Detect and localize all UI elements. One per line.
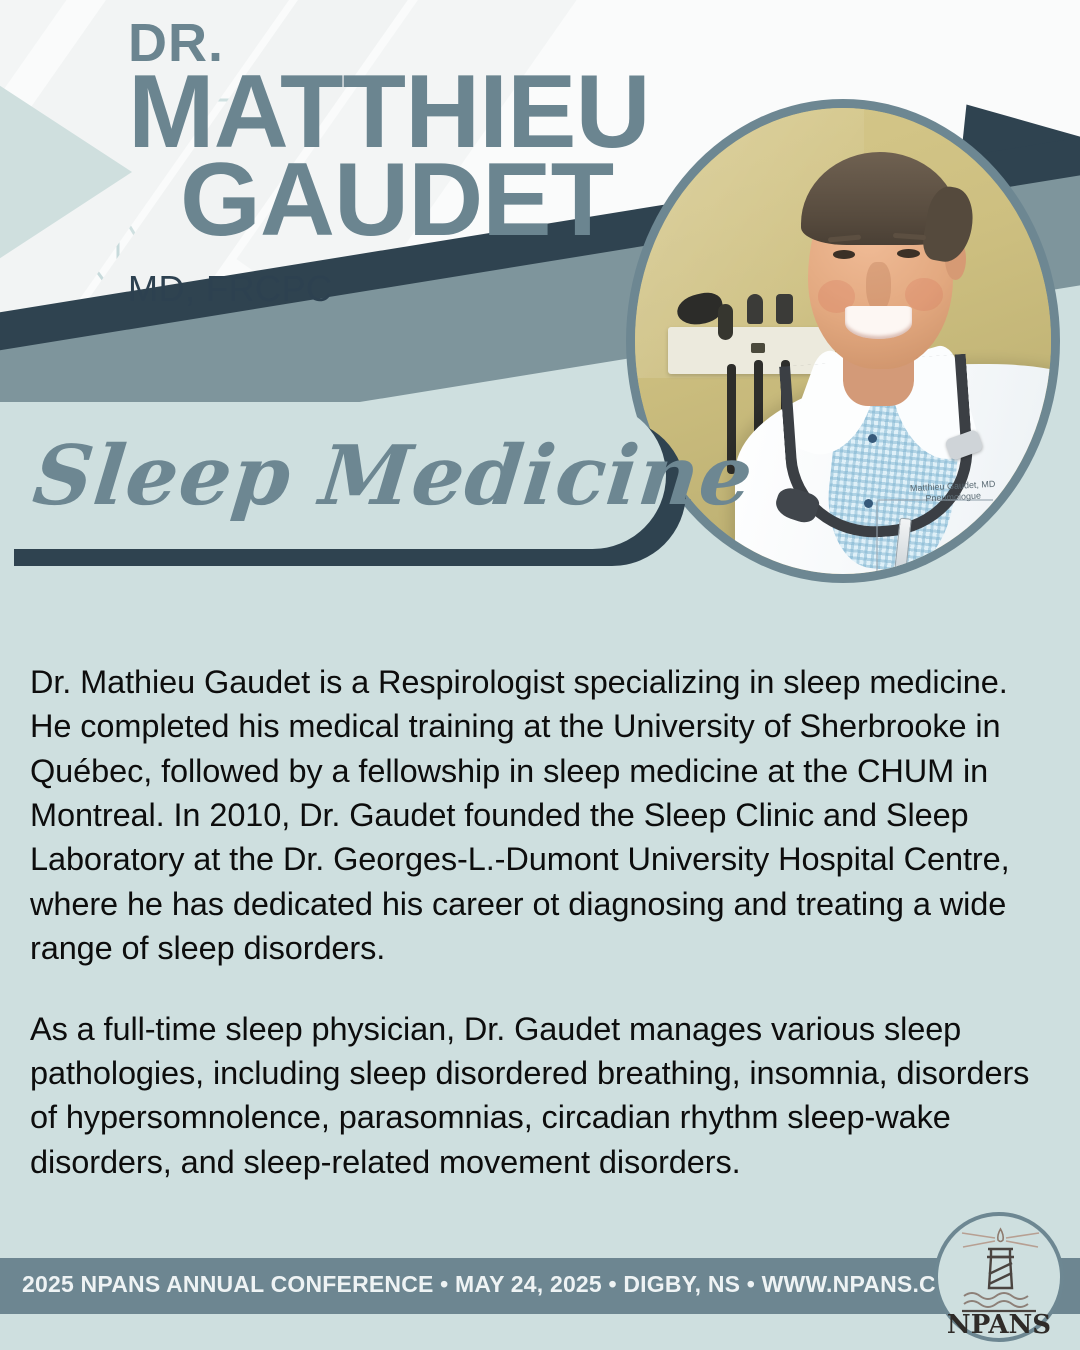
bio-paragraph-1: Dr. Mathieu Gaudet is a Respirologist sp… <box>30 660 1055 971</box>
coat-pocket <box>876 499 992 574</box>
npans-logo-wordmark: NPANS <box>947 1310 1051 1338</box>
specialty-pill: Sleep Medicine <box>0 402 666 549</box>
triangle-fill-decoration <box>0 44 132 300</box>
wall-unit-display <box>751 343 765 353</box>
speaker-announcement-poster: Matthieu Gaudet, MD Pneumologue DR. MATT… <box>0 0 1080 1350</box>
speaker-name-block: DR. MATTHIEU GAUDET MD, FRCPC <box>128 18 948 310</box>
npans-logo: NPANS <box>934 1212 1064 1342</box>
lighthouse-icon: NPANS <box>938 1216 1060 1338</box>
speaker-credentials: MD, FRCPC <box>128 268 948 310</box>
bio-paragraph-2: As a full-time sleep physician, Dr. Gaud… <box>30 1007 1055 1184</box>
smile <box>845 306 912 339</box>
speaker-last-name: GAUDET <box>128 157 948 244</box>
specialty-label: Sleep Medicine <box>29 428 758 524</box>
speaker-biography: Dr. Mathieu Gaudet is a Respirologist sp… <box>30 660 1055 1184</box>
conference-details: 2025 NPANS ANNUAL CONFERENCE • MAY 24, 2… <box>22 1271 953 1298</box>
